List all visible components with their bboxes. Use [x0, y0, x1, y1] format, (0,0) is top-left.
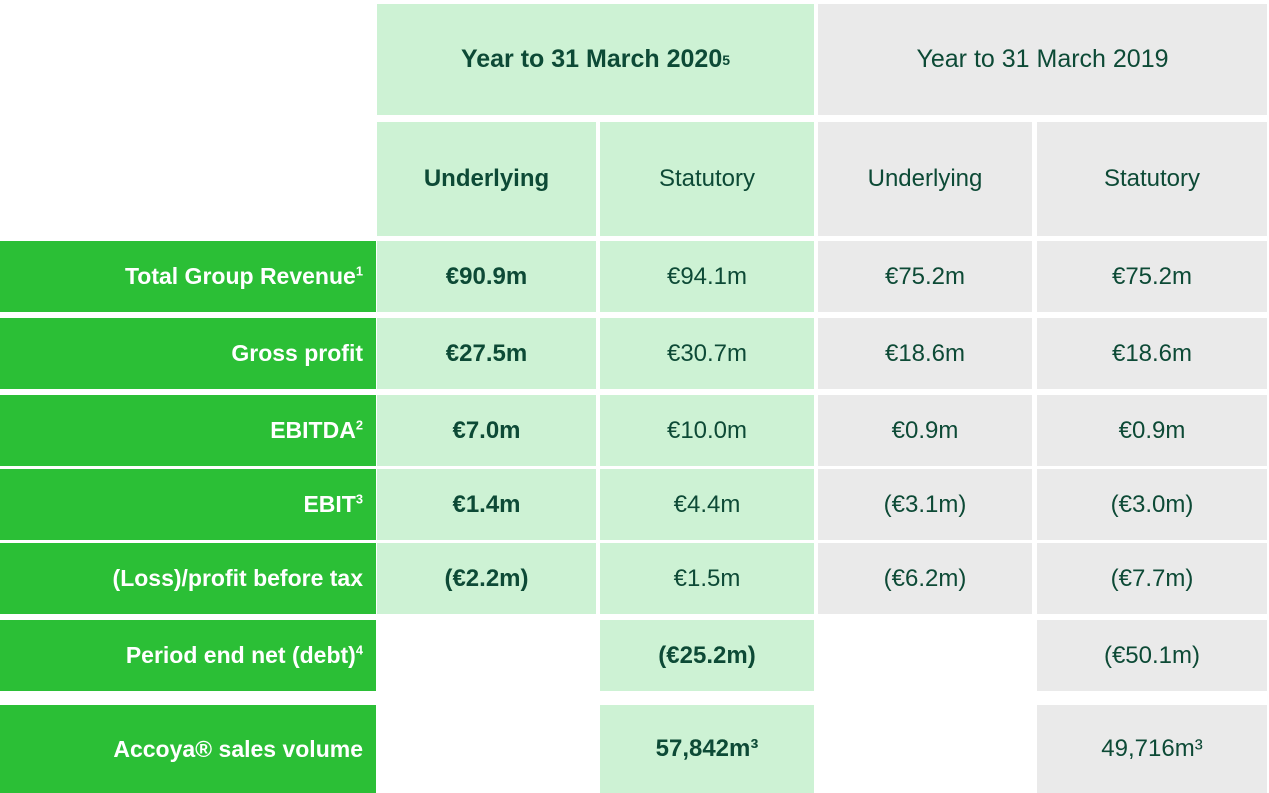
cell-gross-profit-underlying-2019: €18.6m [818, 318, 1032, 389]
cell-value: €75.2m [885, 263, 965, 291]
cell-period-end-net-debt-underlying-2019 [818, 620, 1032, 691]
cell-value: (€3.1m) [884, 491, 967, 519]
column-header-label: Underlying [868, 165, 983, 193]
cell-accoya-sales-volume-underlying-2019 [818, 705, 1032, 793]
row-label-text: Period end net (debt) [126, 642, 356, 668]
cell-period-end-net-debt-underlying-2020 [377, 620, 596, 691]
cell-value: 57,842m³ [656, 735, 759, 763]
row-label-text: Gross profit [231, 340, 363, 366]
row-label-superscript: 2 [356, 418, 363, 433]
row-label-superscript: 3 [356, 492, 363, 507]
cell-accoya-sales-volume-statutory-2019: 49,716m³ [1037, 705, 1267, 793]
row-label-ebitda: EBITDA2 [0, 395, 376, 466]
cell-ebit-statutory-2019: (€3.0m) [1037, 469, 1267, 540]
column-header-label: Statutory [1104, 165, 1200, 193]
cell-ebit-underlying-2019: (€3.1m) [818, 469, 1032, 540]
cell-value: €1.5m [674, 565, 741, 593]
column-header-label: Underlying [424, 165, 549, 193]
cell-value: (€7.7m) [1111, 565, 1194, 593]
row-label-period-end-net-debt: Period end net (debt)4 [0, 620, 376, 691]
column-header-underlying-2019: Underlying [818, 122, 1032, 236]
column-header-label: Statutory [659, 165, 755, 193]
cell-value: €75.2m [1112, 263, 1192, 291]
cell-ebitda-underlying-2019: €0.9m [818, 395, 1032, 466]
cell-value: €18.6m [1112, 340, 1192, 368]
cell-value: €94.1m [667, 263, 747, 291]
row-label-text: Total Group Revenue [125, 263, 356, 289]
period-header-2019: Year to 31 March 2019 [818, 4, 1267, 115]
cell-gross-profit-statutory-2020: €30.7m [600, 318, 814, 389]
row-label-ebit: EBIT3 [0, 469, 376, 540]
cell-loss-profit-before-tax-underlying-2020: (€2.2m) [377, 543, 596, 614]
cell-value: €18.6m [885, 340, 965, 368]
cell-value: €7.0m [452, 417, 520, 445]
cell-accoya-sales-volume-underlying-2020 [377, 705, 596, 793]
cell-period-end-net-debt-statutory-2019: (€50.1m) [1037, 620, 1267, 691]
cell-value: (€2.2m) [444, 565, 528, 593]
cell-value: €0.9m [1119, 417, 1186, 445]
cell-loss-profit-before-tax-statutory-2020: €1.5m [600, 543, 814, 614]
cell-ebitda-statutory-2019: €0.9m [1037, 395, 1267, 466]
cell-gross-profit-statutory-2019: €18.6m [1037, 318, 1267, 389]
row-label-text: (Loss)/profit before tax [113, 565, 363, 591]
row-label-loss-profit-before-tax: (Loss)/profit before tax [0, 543, 376, 614]
cell-value: 49,716m³ [1101, 735, 1202, 763]
row-label-superscript: 1 [356, 264, 363, 279]
cell-value: €30.7m [667, 340, 747, 368]
cell-accoya-sales-volume-statutory-2020: 57,842m³ [600, 705, 814, 793]
cell-ebitda-statutory-2020: €10.0m [600, 395, 814, 466]
cell-value: €27.5m [446, 340, 527, 368]
cell-value: (€25.2m) [658, 642, 755, 670]
period-header-2019-label: Year to 31 March 2019 [916, 45, 1168, 74]
cell-ebitda-underlying-2020: €7.0m [377, 395, 596, 466]
column-header-statutory-2019: Statutory [1037, 122, 1267, 236]
cell-loss-profit-before-tax-statutory-2019: (€7.7m) [1037, 543, 1267, 614]
cell-value: €10.0m [667, 417, 747, 445]
financial-highlights-table: Year to 31 March 20205 Year to 31 March … [0, 0, 1269, 793]
cell-value: (€6.2m) [884, 565, 967, 593]
period-header-2020: Year to 31 March 20205 [377, 4, 814, 115]
cell-value: €1.4m [452, 491, 520, 519]
row-label-superscript: 4 [356, 643, 363, 658]
column-header-underlying-2020: Underlying [377, 122, 596, 236]
cell-period-end-net-debt-statutory-2020: (€25.2m) [600, 620, 814, 691]
cell-ebit-statutory-2020: €4.4m [600, 469, 814, 540]
cell-total-group-revenue-underlying-2020: €90.9m [377, 241, 596, 312]
cell-gross-profit-underlying-2020: €27.5m [377, 318, 596, 389]
row-label-text: EBITDA [270, 417, 356, 443]
cell-value: (€3.0m) [1111, 491, 1194, 519]
cell-total-group-revenue-statutory-2020: €94.1m [600, 241, 814, 312]
cell-value: €4.4m [674, 491, 741, 519]
row-label-text: EBIT [303, 491, 355, 517]
cell-value: €0.9m [892, 417, 959, 445]
cell-total-group-revenue-statutory-2019: €75.2m [1037, 241, 1267, 312]
period-header-2020-label: Year to 31 March 2020 [461, 45, 722, 74]
cell-value: €90.9m [446, 263, 527, 291]
row-label-total-group-revenue: Total Group Revenue1 [0, 241, 376, 312]
row-label-text: Accoya® sales volume [113, 736, 363, 762]
cell-ebit-underlying-2020: €1.4m [377, 469, 596, 540]
cell-total-group-revenue-underlying-2019: €75.2m [818, 241, 1032, 312]
row-label-gross-profit: Gross profit [0, 318, 376, 389]
column-header-statutory-2020: Statutory [600, 122, 814, 236]
cell-loss-profit-before-tax-underlying-2019: (€6.2m) [818, 543, 1032, 614]
cell-value: (€50.1m) [1104, 642, 1200, 670]
row-label-accoya-sales-volume: Accoya® sales volume [0, 705, 376, 793]
